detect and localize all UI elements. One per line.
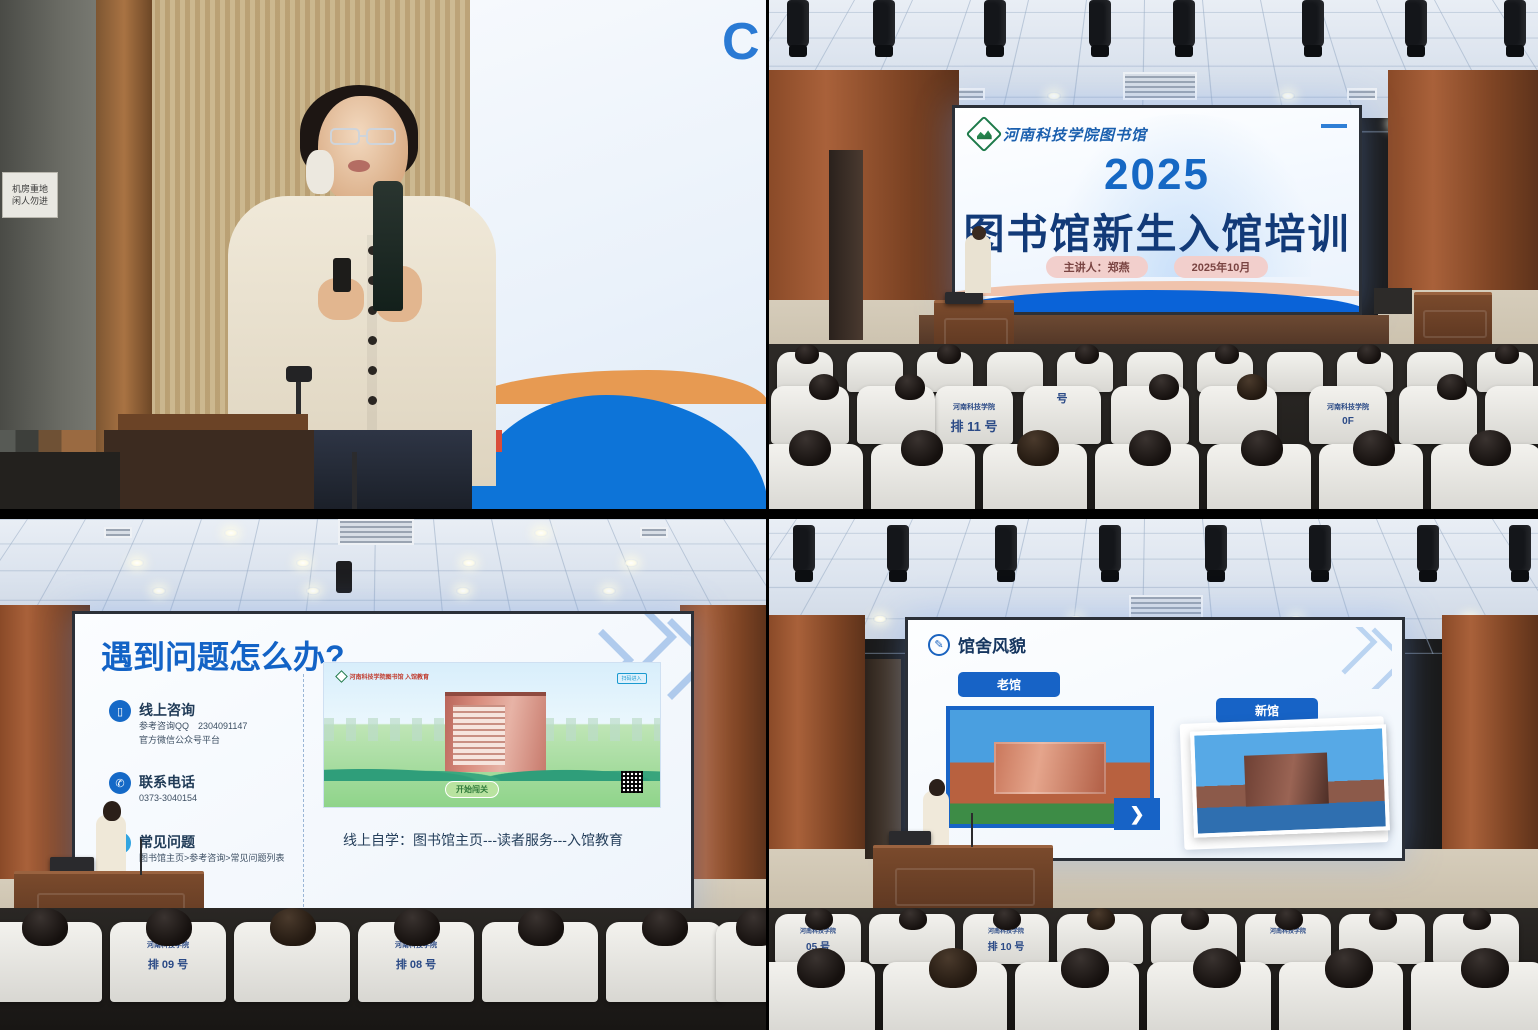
chair-org-label: 河南科技学院 [935,402,1013,412]
glasses-left-lens [330,128,360,145]
ceiling-downlight [624,559,638,567]
audience-head [736,908,766,946]
audience-head [899,908,927,930]
audience-head [1181,908,1209,930]
mic-cable [352,452,357,509]
audience-head [1325,948,1373,988]
audience-head [1495,344,1519,364]
audience-head [1215,344,1239,364]
ceiling-downlight [130,559,144,567]
ceiling-ac-vent [1123,72,1197,100]
presentation-clicker [333,258,351,292]
audience-head [1241,430,1283,466]
slide-year: 2025 [955,150,1359,200]
audience-head [1237,374,1267,400]
audience-head [797,948,845,988]
library-building-illustration: 河南科技学院图书馆 入馆教育 扫码进入 开始闯关 [324,663,660,807]
chair-seat-label: 号 [1023,390,1101,406]
old-library-pill: 老馆 [958,672,1060,697]
start-challenge-button[interactable]: 开始闯关 [445,781,499,798]
stage-light [1504,0,1526,48]
handheld-microphone [373,181,403,311]
audience-head [1357,344,1381,364]
chair-seat-label: 排 09 号 [110,956,226,972]
glasses-right-lens [366,128,396,145]
panel-hall-faq-slide: 遇到问题怎么办? ▯ 线上咨询 参考咨询QQ 2304091147 官方微信公众… [0,519,766,1030]
stage-light [984,0,1006,48]
slide-heading: 遇到问题怎么办? [101,632,345,678]
audience-head [1369,908,1397,930]
slide-accent-mark [496,430,502,452]
audience-head [901,430,943,466]
chair-seat-label: 0F [1309,416,1387,427]
stage-light [1099,525,1121,573]
audience-head [1437,374,1467,400]
faq-item: ? 常见问题 图书馆主页>参考咨询>常见问题列表 [109,832,309,866]
chair-seat-label: 排 08 号 [358,956,474,972]
presenter-head-small [929,779,945,796]
stage-light [1173,0,1195,48]
audience-head [394,908,440,946]
stage-light [1302,0,1324,48]
audience-head [1275,908,1303,930]
cardigan-button [368,336,377,345]
library-logo: 河南科技学院图书馆 [971,121,1147,147]
ceiling-downlight [1047,92,1061,100]
stage-light [793,525,815,573]
ceiling-downlight [602,587,616,595]
audience-area: 河南科技学院 05 号 河南科技学院 排 10 号 河南科技学院 [769,908,1538,1030]
audience-area: 河南科技学院 排 09 号 河南科技学院 排 08 号 [0,908,766,1030]
foreground-chair [104,430,314,509]
audience-chair [1399,386,1477,444]
library-emblem-icon: ✎ [928,634,950,656]
library-logo-text: 河南科技学院图书馆 [1003,124,1147,145]
audience-head [1353,430,1395,466]
chair-seat-label: 排 10 号 [963,938,1049,953]
door-warning-sign: 机房重地 闲人勿进 [2,172,58,218]
chevron-decoration [1274,627,1393,689]
stage-light [1089,0,1111,48]
audience-head [805,908,833,930]
ceiling-vent [955,88,985,100]
next-arrow-button[interactable]: ❯ [1114,798,1160,830]
chair-org-label: 河南科技学院 [1309,402,1387,412]
audience-head [795,344,819,364]
ceiling-downlight [296,559,310,567]
side-door [865,659,901,859]
audience-head [518,908,564,946]
audience-head [929,948,977,988]
audience-head [1193,948,1241,988]
audience-head [22,908,68,946]
stage-light [1309,525,1331,573]
stage-light [1205,525,1227,573]
foreground-equipment [0,452,120,509]
presenter-on-stage [965,235,991,293]
presenter-mouth [348,160,370,172]
ceiling-downlight [306,587,320,595]
audience-head [1149,374,1179,400]
new-library-photo [1190,724,1390,837]
photo-collage: 机房重地 闲人勿进 C [0,0,1538,1030]
faq-item-line: 参考咨询QQ 2304091147 [139,720,247,734]
audience-head [1129,430,1171,466]
illustration-tag: 扫码进入 [617,673,647,684]
slide-wave-group [955,239,1359,312]
door-sign-line1: 机房重地 [12,183,48,195]
tree-row [324,749,660,781]
stage-light [1405,0,1427,48]
ceiling-downlight [1281,92,1295,100]
ceiling-downlight [152,587,166,595]
slide-buildings-deck: ✎ 馆舍风貌 老馆 新馆 ❯ [908,620,1402,858]
audience-head [1017,430,1059,466]
door-sign-line2: 闲人勿进 [12,195,48,207]
audience-chair-labelled: 河南科技学院 排 11 号 [935,386,1013,444]
illustration-card: 河南科技学院图书馆 入馆教育 扫码进入 开始闯关 [323,662,661,808]
slide-corner-dash [1321,124,1347,128]
ceiling-projector [336,561,352,593]
stage-light [873,0,895,48]
faq-item-line: 0373-3040154 [139,792,197,806]
presenter-head-small [972,226,986,240]
stage-light [995,525,1017,573]
cardigan-button [368,396,377,405]
audience-chair [1267,352,1323,392]
podium-mic-stand [140,839,142,875]
illustration-logo-text: 河南科技学院图书馆 入馆教育 [349,672,429,681]
slide-footer-text: 线上自学：图书馆主页---读者服务---入馆教育 [343,830,623,850]
audience-head [895,374,925,400]
audience-head [1075,344,1099,364]
side-door [829,150,863,340]
projection-screen: 河南科技学院图书馆 2025 图书馆新生入馆培训 主讲人：郑燕 2025年10月 [952,105,1362,315]
faq-item: ▯ 线上咨询 参考咨询QQ 2304091147 官方微信公众号平台 [109,700,299,747]
floor-mic-head [286,366,312,382]
slide-title-deck: 河南科技学院图书馆 2025 图书馆新生入馆培训 主讲人：郑燕 2025年10月 [955,108,1359,312]
side-podium [1414,292,1492,348]
telephone-icon: ✆ [109,772,131,794]
ceiling-vent [640,527,668,538]
faq-item-title: 常见问题 [139,832,285,852]
faq-item-title: 线上咨询 [139,700,247,720]
library-emblem-icon [336,670,349,683]
podium-mic-stand [971,813,973,847]
stage-light [1417,525,1439,573]
panel-presenter-closeup: 机房重地 闲人勿进 C [0,0,766,509]
slide-letter-c: C [722,12,760,72]
audience-head [146,908,192,946]
ceiling-vent [1347,88,1377,100]
slide-heading: 馆舍风貌 [958,632,1026,657]
audience-head [1061,948,1109,988]
audience-head [993,908,1021,930]
ceiling-vent [104,527,132,538]
podium-laptop [945,292,983,304]
audience-head [809,374,839,400]
stage-light [887,525,909,573]
ceiling-downlight [456,587,470,595]
side-equipment [1374,288,1412,314]
slide-divider [303,674,304,922]
cardigan-button [368,366,377,375]
audience-head [1087,908,1115,930]
audience-head [1463,908,1491,930]
ceiling-downlight [224,529,238,537]
ceiling-ac-vent [338,519,414,545]
mobile-phone-icon: ▯ [109,700,131,722]
ceiling-downlight [462,559,476,567]
panel-hall-title-slide: 河南科技学院图书馆 2025 图书馆新生入馆培训 主讲人：郑燕 2025年10月 [769,0,1538,509]
stage-light [787,0,809,48]
qr-code [621,771,643,793]
audience-area: 河南科技学院 排 11 号 号 河南科技学院 0F [769,344,1538,509]
faq-item-line: 官方微信公众号平台 [139,734,247,748]
chair-seat-label: 排 11 号 [935,416,1013,435]
faq-item-title: 联系电话 [139,772,197,792]
podium-laptop [889,831,931,845]
presenter-skirt [302,430,472,509]
audience-head [1461,948,1509,988]
audience-head [270,908,316,946]
audience-head [1469,430,1511,466]
ceiling-downlight [873,615,887,623]
stage-light [1509,525,1531,573]
slide-heading-row: ✎ 馆舍风貌 [928,632,1026,657]
faq-item: ✆ 联系电话 0373-3040154 [109,772,299,806]
panel-hall-buildings-slide: ✎ 馆舍风貌 老馆 新馆 ❯ 河南科技学院 [769,519,1538,1030]
audience-head [789,430,831,466]
presenter-head-small [103,801,121,821]
audience-head [642,908,688,946]
hair-clip [306,150,334,194]
ceiling-downlight [534,529,548,537]
projection-screen: ✎ 馆舍风貌 老馆 新馆 ❯ [905,617,1405,861]
library-emblem-icon [966,116,1003,153]
illustration-logo: 河南科技学院图书馆 入馆教育 [337,672,429,681]
audience-head [937,344,961,364]
glasses-bridge [360,135,366,137]
faq-item-line: 图书馆主页>参考咨询>常见问题列表 [139,852,285,866]
